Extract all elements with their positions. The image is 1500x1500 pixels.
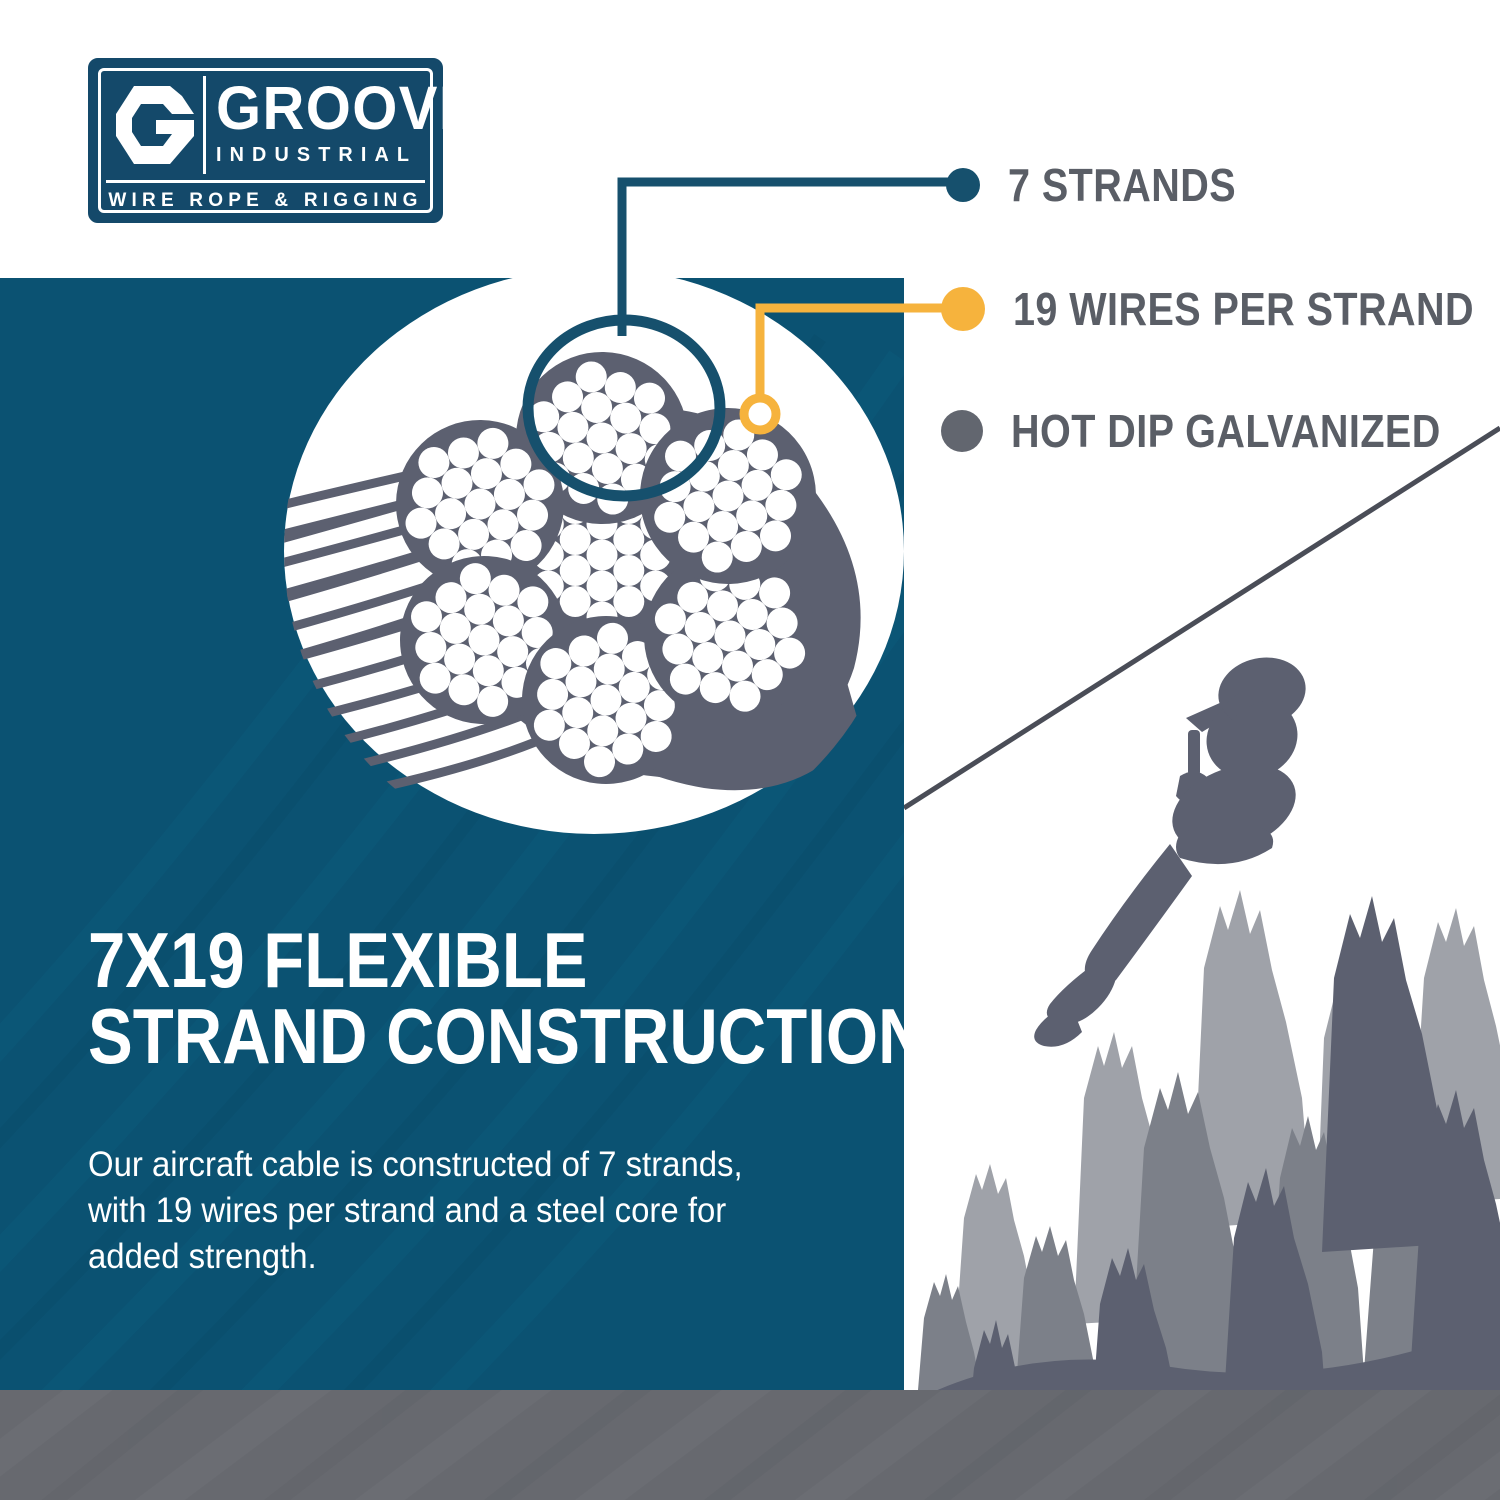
callout-label-strands: 7 STRANDS (1008, 158, 1236, 212)
body-paragraph: Our aircraft cable is constructed of 7 s… (88, 1142, 746, 1281)
band-wave-texture (0, 1390, 1500, 1500)
connector-line-wires (760, 308, 962, 414)
callout-bullet-galvanized (941, 410, 983, 452)
callout-label-wires: 19 WIRES PER STRAND (1013, 282, 1474, 336)
headline-line-1: 7X19 FLEXIBLE (88, 922, 767, 998)
connector-line-strands (622, 182, 962, 336)
infographic-canvas: GROOVE INDUSTRIAL WIRE ROPE & RIGGING (0, 0, 1500, 1500)
callout-wires[interactable]: 19 WIRES PER STRAND (941, 282, 1500, 336)
wire-marker-ring (744, 398, 776, 430)
callout-strands[interactable]: 7 STRANDS (946, 158, 1273, 212)
callout-bullet-wires (941, 287, 985, 331)
callout-bullet-strands (946, 168, 980, 202)
headline-line-2: STRAND CONSTRUCTION (88, 998, 767, 1074)
headline-block: 7X19 FLEXIBLE STRAND CONSTRUCTION (88, 922, 878, 1075)
callout-galvanized[interactable]: HOT DIP GALVANIZED (941, 404, 1500, 458)
callout-connectors (0, 0, 1500, 560)
callout-label-galvanized: HOT DIP GALVANIZED (1011, 404, 1441, 458)
bottom-gray-band (0, 1390, 1500, 1500)
